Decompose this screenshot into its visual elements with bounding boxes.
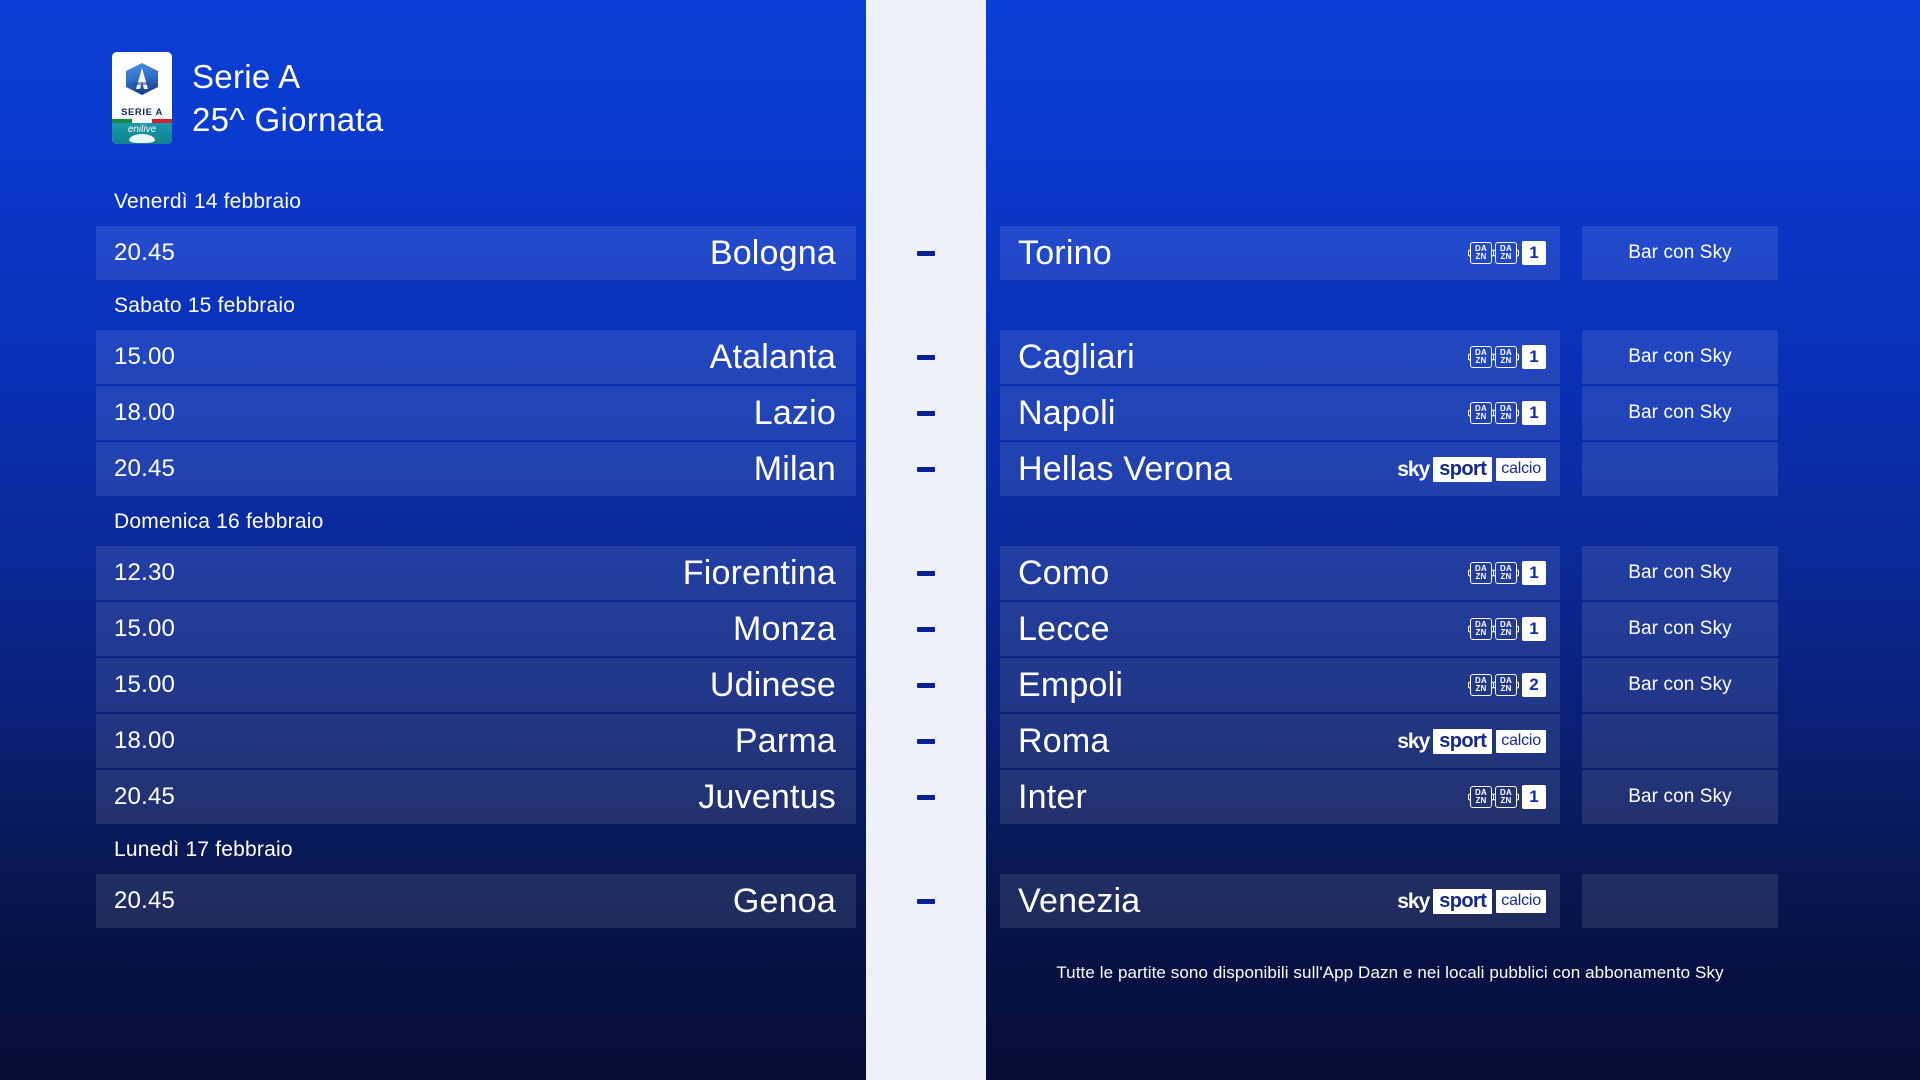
- match-time: 20.45: [114, 887, 175, 915]
- sky-sport-wordmark: sport: [1433, 457, 1492, 482]
- bar-con-sky-badge[interactable]: Bar con Sky: [1582, 602, 1778, 656]
- match-row-away[interactable]: Hellas Veronaskysportcalcio: [1000, 442, 1780, 496]
- home-team-name: Juventus: [698, 778, 836, 817]
- away-team-box[interactable]: TorinoDAZNDAZN1: [1000, 226, 1560, 280]
- away-team-box[interactable]: CagliariDAZNDAZN1: [1000, 330, 1560, 384]
- dazn-tile-icon: DAZN: [1495, 346, 1517, 368]
- bar-con-sky-label: Bar con Sky: [1628, 346, 1732, 368]
- day-label-spacer: [1000, 178, 1780, 226]
- day-label: Domenica 16 febbraio: [96, 498, 856, 546]
- away-team-box[interactable]: Hellas Veronaskysportcalcio: [1000, 442, 1560, 496]
- away-team-name: Torino: [1018, 234, 1112, 273]
- match-row-home[interactable]: 15.00Atalanta: [96, 330, 856, 384]
- match-row-away[interactable]: Veneziaskysportcalcio: [1000, 874, 1780, 928]
- enilive-mascot-icon: [129, 134, 155, 143]
- sky-wordmark: sky: [1397, 891, 1429, 912]
- dazn-channel-number: 1: [1522, 785, 1546, 809]
- match-row-home[interactable]: 15.00Udinese: [96, 658, 856, 712]
- serie-a-wordmark: SERIE A: [112, 106, 172, 119]
- sky-wordmark: sky: [1397, 459, 1429, 480]
- dazn-tile-icon: DAZN: [1495, 402, 1517, 424]
- bar-con-sky-label: Bar con Sky: [1628, 786, 1732, 808]
- home-team-name: Genoa: [733, 882, 836, 921]
- left-fixtures-column: Venerdì 14 febbraio20.45BolognaSabato 15…: [96, 178, 856, 930]
- bar-con-sky-label: Bar con Sky: [1628, 674, 1732, 696]
- match-row-home[interactable]: 20.45Bologna: [96, 226, 856, 280]
- match-row-away[interactable]: Romaskysportcalcio: [1000, 714, 1780, 768]
- bar-con-sky-badge[interactable]: Bar con Sky: [1582, 226, 1778, 280]
- away-team-box[interactable]: NapoliDAZNDAZN1: [1000, 386, 1560, 440]
- dazn-channel-number: 1: [1522, 345, 1546, 369]
- dazn-tile-icon: DAZN: [1495, 562, 1517, 584]
- away-team-name: Venezia: [1018, 882, 1140, 921]
- bar-con-sky-badge[interactable]: Bar con Sky: [1582, 330, 1778, 384]
- dazn-logo: DAZNDAZN2: [1470, 673, 1546, 697]
- away-team-name: Inter: [1018, 778, 1087, 817]
- away-team-name: Hellas Verona: [1018, 450, 1232, 489]
- dazn-channel-number: 1: [1522, 401, 1546, 425]
- day-label-spacer: [1000, 282, 1780, 330]
- dazn-logo: DAZNDAZN1: [1470, 401, 1546, 425]
- sky-sport-calcio-logo: skysportcalcio: [1397, 457, 1546, 482]
- match-row-home[interactable]: 20.45Genoa: [96, 874, 856, 928]
- match-time: 15.00: [114, 343, 175, 371]
- bar-con-sky-badge[interactable]: Bar con Sky: [1582, 386, 1778, 440]
- day-label-spacer: [1000, 498, 1780, 546]
- sky-calcio-wordmark: calcio: [1496, 458, 1546, 481]
- sky-wordmark: sky: [1397, 731, 1429, 752]
- serie-a-hexagon-icon: [124, 62, 160, 96]
- fixtures-graphic: SERIE A enilive Serie A 25^ Giornata Ven…: [0, 0, 1920, 1080]
- match-time: 20.45: [114, 239, 175, 267]
- dazn-tile-icon: DAZN: [1470, 242, 1492, 264]
- dazn-tile-icon: DAZN: [1470, 562, 1492, 584]
- header-titles: Serie A 25^ Giornata: [192, 55, 384, 141]
- away-team-name: Lecce: [1018, 610, 1110, 649]
- match-row-away[interactable]: EmpoliDAZNDAZN2Bar con Sky: [1000, 658, 1780, 712]
- dazn-channel-number: 1: [1522, 617, 1546, 641]
- away-team-box[interactable]: Veneziaskysportcalcio: [1000, 874, 1560, 928]
- match-row-home[interactable]: 18.00Lazio: [96, 386, 856, 440]
- sky-sport-calcio-logo: skysportcalcio: [1397, 889, 1546, 914]
- match-row-home[interactable]: 15.00Monza: [96, 602, 856, 656]
- sky-sport-wordmark: sport: [1433, 889, 1492, 914]
- dazn-logo: DAZNDAZN1: [1470, 785, 1546, 809]
- home-team-name: Fiorentina: [683, 554, 836, 593]
- bar-con-sky-badge[interactable]: Bar con Sky: [1582, 658, 1778, 712]
- day-label: Venerdì 14 febbraio: [96, 178, 856, 226]
- center-divider-band: [866, 0, 986, 1080]
- bar-badge-empty: [1582, 874, 1778, 928]
- match-time: 15.00: [114, 671, 175, 699]
- sky-sport-calcio-logo: skysportcalcio: [1397, 729, 1546, 754]
- home-team-name: Parma: [735, 722, 836, 761]
- bar-badge-empty: [1582, 714, 1778, 768]
- match-row-away[interactable]: LecceDAZNDAZN1Bar con Sky: [1000, 602, 1780, 656]
- dazn-logo: DAZNDAZN1: [1470, 241, 1546, 265]
- match-time: 15.00: [114, 615, 175, 643]
- match-row-away[interactable]: NapoliDAZNDAZN1Bar con Sky: [1000, 386, 1780, 440]
- away-team-name: Napoli: [1018, 394, 1116, 433]
- dazn-logo: DAZNDAZN1: [1470, 617, 1546, 641]
- home-team-name: Lazio: [754, 394, 836, 433]
- away-team-box[interactable]: Romaskysportcalcio: [1000, 714, 1560, 768]
- match-row-away[interactable]: ComoDAZNDAZN1Bar con Sky: [1000, 546, 1780, 600]
- home-team-name: Bologna: [710, 234, 836, 273]
- dazn-tile-icon: DAZN: [1495, 674, 1517, 696]
- dazn-tile-icon: DAZN: [1470, 402, 1492, 424]
- sky-calcio-wordmark: calcio: [1496, 730, 1546, 753]
- match-row-away[interactable]: InterDAZNDAZN1Bar con Sky: [1000, 770, 1780, 824]
- match-row-home[interactable]: 12.30Fiorentina: [96, 546, 856, 600]
- dazn-logo: DAZNDAZN1: [1470, 345, 1546, 369]
- match-time: 20.45: [114, 455, 175, 483]
- away-team-box[interactable]: ComoDAZNDAZN1: [1000, 546, 1560, 600]
- page-title: Serie A: [192, 55, 384, 98]
- serie-a-enilive-logo: SERIE A enilive: [112, 52, 172, 144]
- bar-con-sky-label: Bar con Sky: [1628, 402, 1732, 424]
- matchday-title: 25^ Giornata: [192, 98, 384, 141]
- bar-con-sky-badge[interactable]: Bar con Sky: [1582, 770, 1778, 824]
- dazn-channel-number: 1: [1522, 241, 1546, 265]
- away-team-box[interactable]: LecceDAZNDAZN1: [1000, 602, 1560, 656]
- dazn-channel-number: 2: [1522, 673, 1546, 697]
- dazn-channel-number: 1: [1522, 561, 1546, 585]
- day-label-spacer: [1000, 826, 1780, 874]
- away-team-box[interactable]: InterDAZNDAZN1: [1000, 770, 1560, 824]
- match-time: 18.00: [114, 727, 175, 755]
- home-team-name: Monza: [733, 610, 836, 649]
- home-team-name: Milan: [754, 450, 836, 489]
- dazn-tile-icon: DAZN: [1495, 618, 1517, 640]
- bar-con-sky-label: Bar con Sky: [1628, 618, 1732, 640]
- dazn-tile-icon: DAZN: [1470, 346, 1492, 368]
- away-team-name: Empoli: [1018, 666, 1123, 705]
- enilive-sponsor-band: enilive: [112, 123, 172, 144]
- bar-con-sky-label: Bar con Sky: [1628, 562, 1732, 584]
- home-team-name: Udinese: [710, 666, 836, 705]
- right-fixtures-column: TorinoDAZNDAZN1Bar con SkyCagliariDAZNDA…: [1000, 178, 1780, 930]
- footer-note: Tutte le partite sono disponibili sull'A…: [1000, 963, 1780, 983]
- bar-con-sky-label: Bar con Sky: [1628, 242, 1732, 264]
- dazn-tile-icon: DAZN: [1470, 786, 1492, 808]
- match-row-home[interactable]: 20.45Milan: [96, 442, 856, 496]
- serie-a-emblem: [112, 52, 172, 106]
- sky-sport-wordmark: sport: [1433, 729, 1492, 754]
- match-row-away[interactable]: CagliariDAZNDAZN1Bar con Sky: [1000, 330, 1780, 384]
- header: SERIE A enilive Serie A 25^ Giornata: [112, 52, 384, 144]
- match-row-home[interactable]: 18.00Parma: [96, 714, 856, 768]
- day-label: Sabato 15 febbraio: [96, 282, 856, 330]
- match-row-home[interactable]: 20.45Juventus: [96, 770, 856, 824]
- match-time: 12.30: [114, 559, 175, 587]
- day-label: Lunedì 17 febbraio: [96, 826, 856, 874]
- bar-badge-empty: [1582, 442, 1778, 496]
- away-team-name: Cagliari: [1018, 338, 1135, 377]
- away-team-box[interactable]: EmpoliDAZNDAZN2: [1000, 658, 1560, 712]
- match-time: 20.45: [114, 783, 175, 811]
- match-row-away[interactable]: TorinoDAZNDAZN1Bar con Sky: [1000, 226, 1780, 280]
- dazn-tile-icon: DAZN: [1470, 674, 1492, 696]
- away-team-name: Como: [1018, 554, 1110, 593]
- dazn-tile-icon: DAZN: [1470, 618, 1492, 640]
- home-team-name: Atalanta: [710, 338, 836, 377]
- bar-con-sky-badge[interactable]: Bar con Sky: [1582, 546, 1778, 600]
- dazn-logo: DAZNDAZN1: [1470, 561, 1546, 585]
- dazn-tile-icon: DAZN: [1495, 242, 1517, 264]
- dazn-tile-icon: DAZN: [1495, 786, 1517, 808]
- sky-calcio-wordmark: calcio: [1496, 890, 1546, 913]
- away-team-name: Roma: [1018, 722, 1110, 761]
- match-time: 18.00: [114, 399, 175, 427]
